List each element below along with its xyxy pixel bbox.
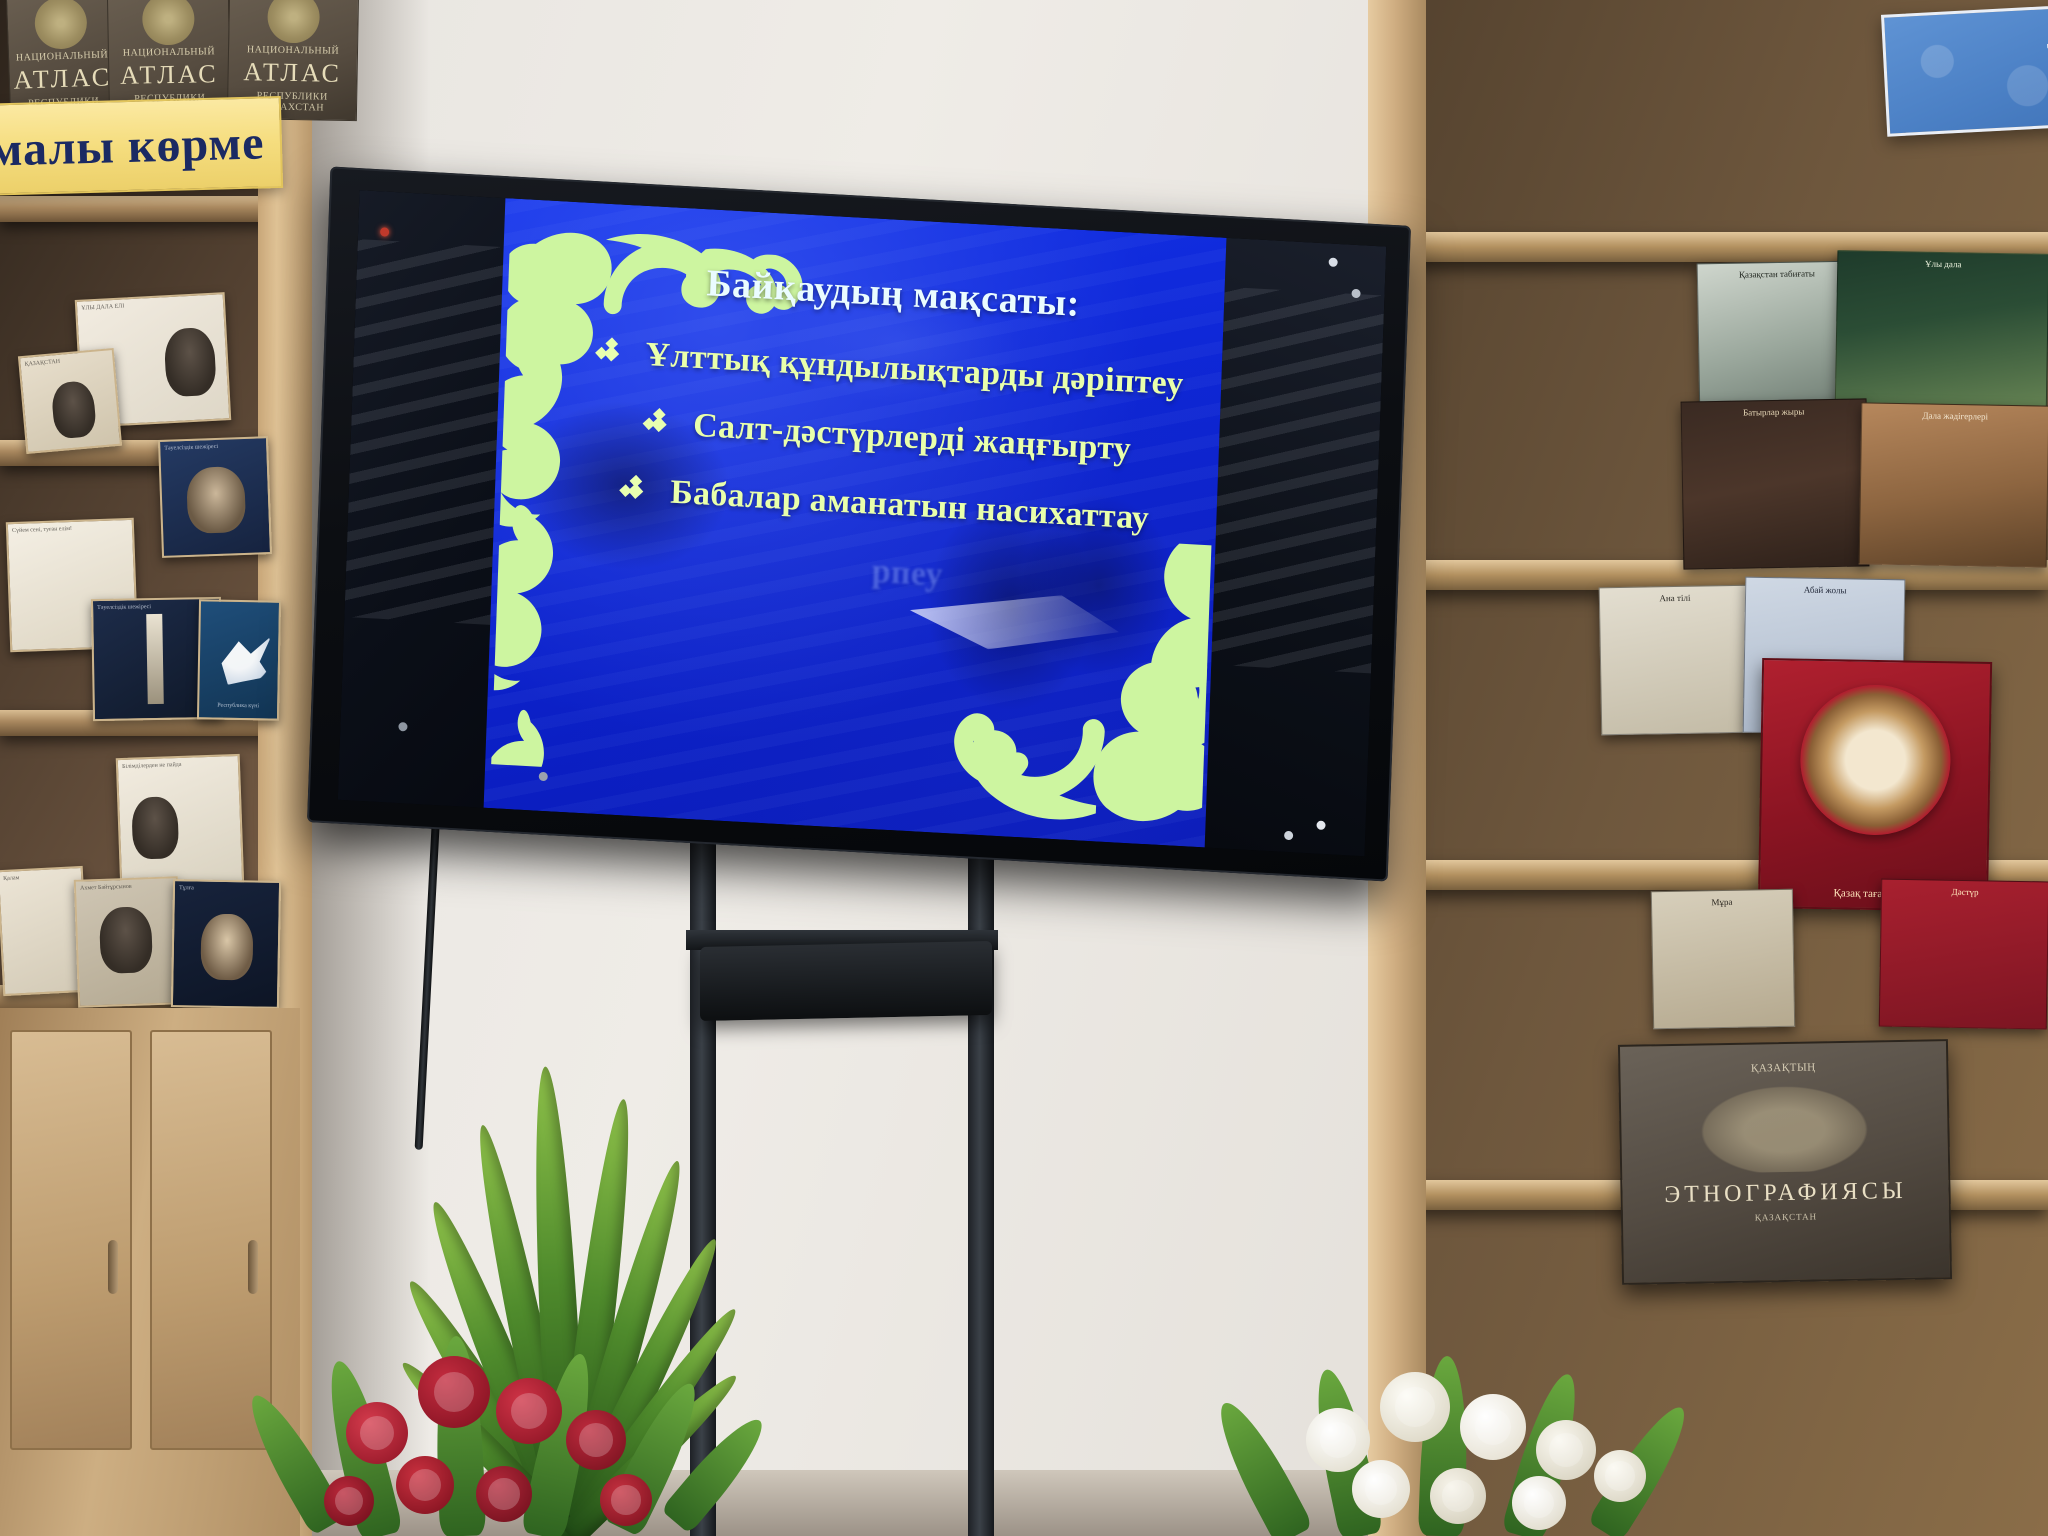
slide-title: Байқаудың мақсаты: bbox=[622, 257, 1165, 331]
monument-icon bbox=[146, 614, 164, 704]
reflected-staircase bbox=[1211, 287, 1384, 674]
shelf-book: Дала жәдігерлері bbox=[1859, 402, 2048, 567]
poster-caption: Ахмет Байтұрсынов bbox=[76, 878, 176, 897]
shelf-book: Батырлар жыры bbox=[1681, 398, 1870, 569]
dish-photo bbox=[1799, 684, 1952, 837]
book-title: Мұра bbox=[1652, 890, 1792, 915]
atlas-line-1: НАЦИОНАЛЬНЫЙ bbox=[9, 49, 115, 64]
flower-bouquet-red bbox=[300, 1260, 720, 1536]
feature-book-subtitle: ҚАЗАҚСТАН bbox=[1623, 1209, 1949, 1225]
book-title: Қазақстан табиғаты bbox=[1698, 262, 1856, 288]
cabinet-handle-icon[interactable] bbox=[108, 1240, 118, 1294]
slide-bullet-item: Бабалар аманатын насихаттау bbox=[614, 471, 1157, 539]
slide-bullet-item: Салт-дәстүрлерді жаңғырту bbox=[617, 403, 1160, 471]
portrait-face bbox=[186, 466, 246, 534]
shelf-poster: ҚАЗАҚСТАН bbox=[18, 348, 122, 454]
feature-book-title: ЭТНОГРАФИЯСЫ bbox=[1622, 1177, 1948, 1210]
slide-bullet-text: Салт-дәстүрлерді жаңғырту bbox=[693, 407, 1132, 469]
exhibition-banner-blue: Ұл bbox=[1881, 1, 2048, 136]
emblem-icon bbox=[34, 0, 88, 50]
shelf-book: Мұра bbox=[1651, 889, 1795, 1029]
shelf-poster: Ахмет Байтұрсынов bbox=[74, 876, 182, 1008]
horse-illustration-icon bbox=[1689, 1078, 1881, 1173]
poster-caption: Білімділерден не пайда bbox=[118, 756, 238, 776]
atlas-line-2: АТЛАС bbox=[109, 59, 230, 91]
poster-caption: Тұлға bbox=[175, 881, 279, 898]
bullet-diamond-icon bbox=[622, 477, 649, 504]
slide-bullet-item-partial: рпеу bbox=[612, 539, 1155, 607]
book-title: Дәстүр bbox=[1882, 880, 2048, 906]
portrait-face bbox=[200, 914, 253, 981]
shelf-book-cookbook: Қазақ тағамдары bbox=[1758, 658, 1992, 912]
feature-book-author: ҚАЗАҚТЫҢ bbox=[1620, 1059, 1946, 1077]
slide-bullet-partial-text: рпеу bbox=[871, 553, 943, 595]
book-title: Батырлар жыры bbox=[1682, 399, 1866, 425]
portrait-face bbox=[50, 380, 97, 439]
left-shelf-board-1 bbox=[0, 196, 274, 222]
slide-bullet-text: Бабалар аманатын насихаттау bbox=[670, 474, 1150, 538]
slide-bullet-text: Ұлттық құндылықтарды дәріптеу bbox=[645, 336, 1184, 404]
cabinet-handle-icon[interactable] bbox=[248, 1240, 258, 1294]
tv-screen[interactable]: Байқаудың мақсаты: Ұлттық құндылықтарды … bbox=[338, 190, 1386, 856]
cabinet-door[interactable] bbox=[150, 1030, 272, 1450]
poster-caption: Сүйем сені, туған елім! bbox=[8, 520, 132, 540]
presentation-slide: Байқаудың мақсаты: Ұлттық құндылықтарды … bbox=[484, 198, 1227, 847]
shelf-poster: Республика күні bbox=[197, 599, 281, 720]
dove-icon bbox=[216, 630, 273, 687]
exhibition-banner-text: малы көрме bbox=[0, 115, 265, 177]
flower-bouquet-white bbox=[1268, 1290, 1688, 1536]
bullet-diamond-icon bbox=[645, 410, 672, 437]
lower-cabinet bbox=[0, 1008, 300, 1536]
slide-bullet-item: Ұлттық құндылықтарды дәріптеу bbox=[619, 335, 1162, 403]
bullet-diamond-icon bbox=[597, 339, 624, 366]
shelf-book: Ана тілі bbox=[1599, 585, 1754, 736]
cabinet-door[interactable] bbox=[10, 1030, 132, 1450]
feature-book-etnografiya: ҚАЗАҚТЫҢ ЭТНОГРАФИЯСЫ ҚАЗАҚСТАН bbox=[1618, 1039, 1952, 1285]
atlas-line-1: НАЦИОНАЛЬНЫЙ bbox=[229, 44, 357, 57]
shelf-poster: Тәуелсіздік шежіресі bbox=[158, 436, 272, 558]
slide-content: Байқаудың мақсаты: Ұлттық құндылықтарды … bbox=[611, 257, 1165, 637]
tv-stand-pole-right bbox=[968, 800, 994, 1536]
shelf-book: Ұлы дала bbox=[1835, 250, 2048, 424]
reflected-staircase bbox=[344, 239, 503, 625]
flat-screen-tv[interactable]: Байқаудың мақсаты: Ұлттық құндылықтарды … bbox=[307, 166, 1411, 881]
poster-caption: Қалам bbox=[0, 868, 82, 888]
screen-glass-reflection-left bbox=[338, 190, 506, 808]
atlas-line-1: НАЦИОНАЛЬНЫЙ bbox=[109, 46, 229, 59]
left-bookcase: НАЦИОНАЛЬНЫЙ АТЛАС РЕСПУБЛИКИ КАЗАХСТАН … bbox=[0, 0, 310, 1536]
shelf-poster: Білімділерден не пайда bbox=[116, 754, 245, 890]
poster-caption: ҰЛЫ ДАЛА ЕЛІ bbox=[77, 294, 224, 317]
book-title: Дала жәдігерлері bbox=[1862, 403, 2048, 429]
shelf-poster: Тұлға bbox=[171, 879, 281, 1009]
book-title: Ұлы дала bbox=[1838, 251, 2048, 277]
shelf-book: Дәстүр bbox=[1879, 879, 2048, 1030]
portrait-face bbox=[131, 796, 179, 860]
emblem-icon bbox=[267, 0, 320, 43]
book-title: Ана тілі bbox=[1600, 586, 1750, 611]
screen-glass-reflection-right bbox=[1205, 238, 1387, 856]
emblem-icon bbox=[142, 0, 195, 45]
atlas-line-2: АТЛАС bbox=[9, 62, 116, 96]
poster-caption: Тәуелсіздік шежіресі bbox=[160, 438, 266, 457]
atlas-line-2: АТЛАС bbox=[228, 57, 357, 89]
book-title: Абай жолы bbox=[1746, 578, 1904, 604]
exhibition-banner-yellow: малы көрме bbox=[0, 96, 283, 196]
poster-caption: Республика күні bbox=[199, 698, 277, 715]
photo-scene: НАЦИОНАЛЬНЫЙ АТЛАС РЕСПУБЛИКИ КАЗАХСТАН … bbox=[0, 0, 2048, 1536]
portrait-face bbox=[99, 906, 153, 974]
portrait-face bbox=[163, 327, 216, 398]
